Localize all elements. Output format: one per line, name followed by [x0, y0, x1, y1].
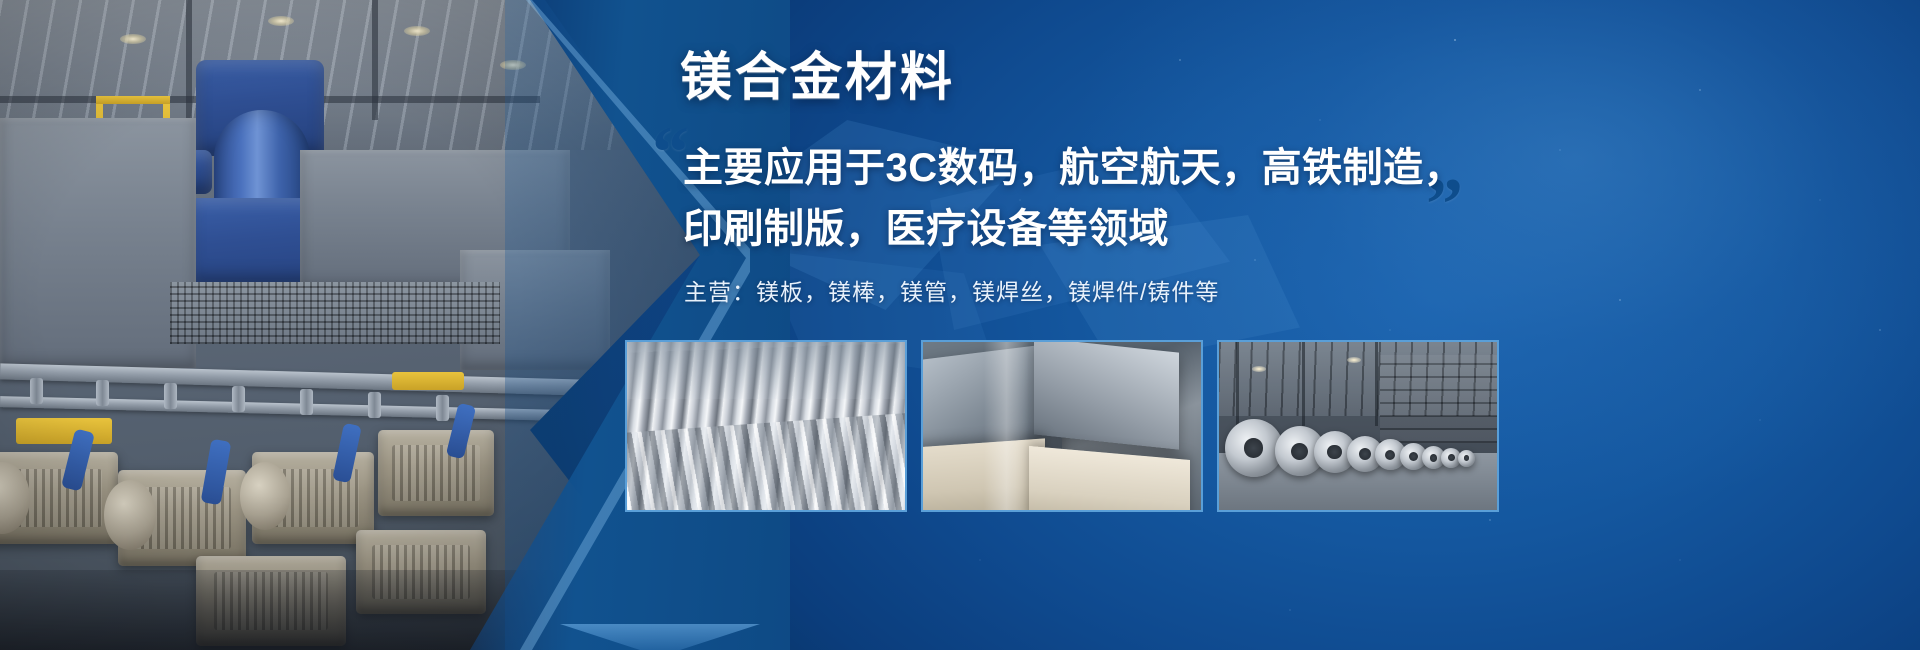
- product-thumbnail-magnesium-plates[interactable]: [921, 340, 1203, 512]
- metal-coil: [1458, 450, 1475, 467]
- magnesium-plates-image: [923, 342, 1201, 510]
- plate-glare: [984, 342, 1028, 510]
- plate-shape: [1034, 340, 1179, 450]
- main-products-text: 主营：镁板，镁棒，镁管，镁焊丝，镁焊件/铸件等: [684, 276, 1219, 308]
- hero-banner: 镁合金材料 “ ” 主要应用于3C数码，航空航天，高铁制造， 印刷制版，医疗设备…: [0, 0, 1920, 650]
- warehouse-wall: [1380, 355, 1497, 442]
- banner-subtitle-line-1: 主要应用于3C数码，航空航天，高铁制造，: [683, 138, 1503, 199]
- magnesium-bars-image: [627, 342, 905, 510]
- warehouse-column: [1302, 342, 1305, 426]
- warehouse-column: [1236, 342, 1239, 429]
- banner-subtitle-line-2: 印刷制版，医疗设备等领域: [683, 199, 1503, 260]
- plate-shape: [1029, 446, 1190, 512]
- product-thumbnail-magnesium-bars[interactable]: [625, 340, 907, 512]
- banner-title: 镁合金材料: [680, 50, 955, 106]
- product-thumbnail-list: [625, 340, 1499, 512]
- magnesium-coils-image: [1219, 342, 1497, 510]
- warehouse-lamp-icon: [1252, 366, 1266, 372]
- banner-content: 镁合金材料 “ ” 主要应用于3C数码，航空航天，高铁制造， 印刷制版，医疗设备…: [0, 0, 1920, 650]
- metal-coil: [1225, 419, 1283, 477]
- warehouse-column: [1375, 342, 1378, 426]
- banner-subtitle: 主要应用于3C数码，航空航天，高铁制造， 印刷制版，医疗设备等领域: [683, 138, 1503, 260]
- product-thumbnail-magnesium-coils[interactable]: [1217, 340, 1499, 512]
